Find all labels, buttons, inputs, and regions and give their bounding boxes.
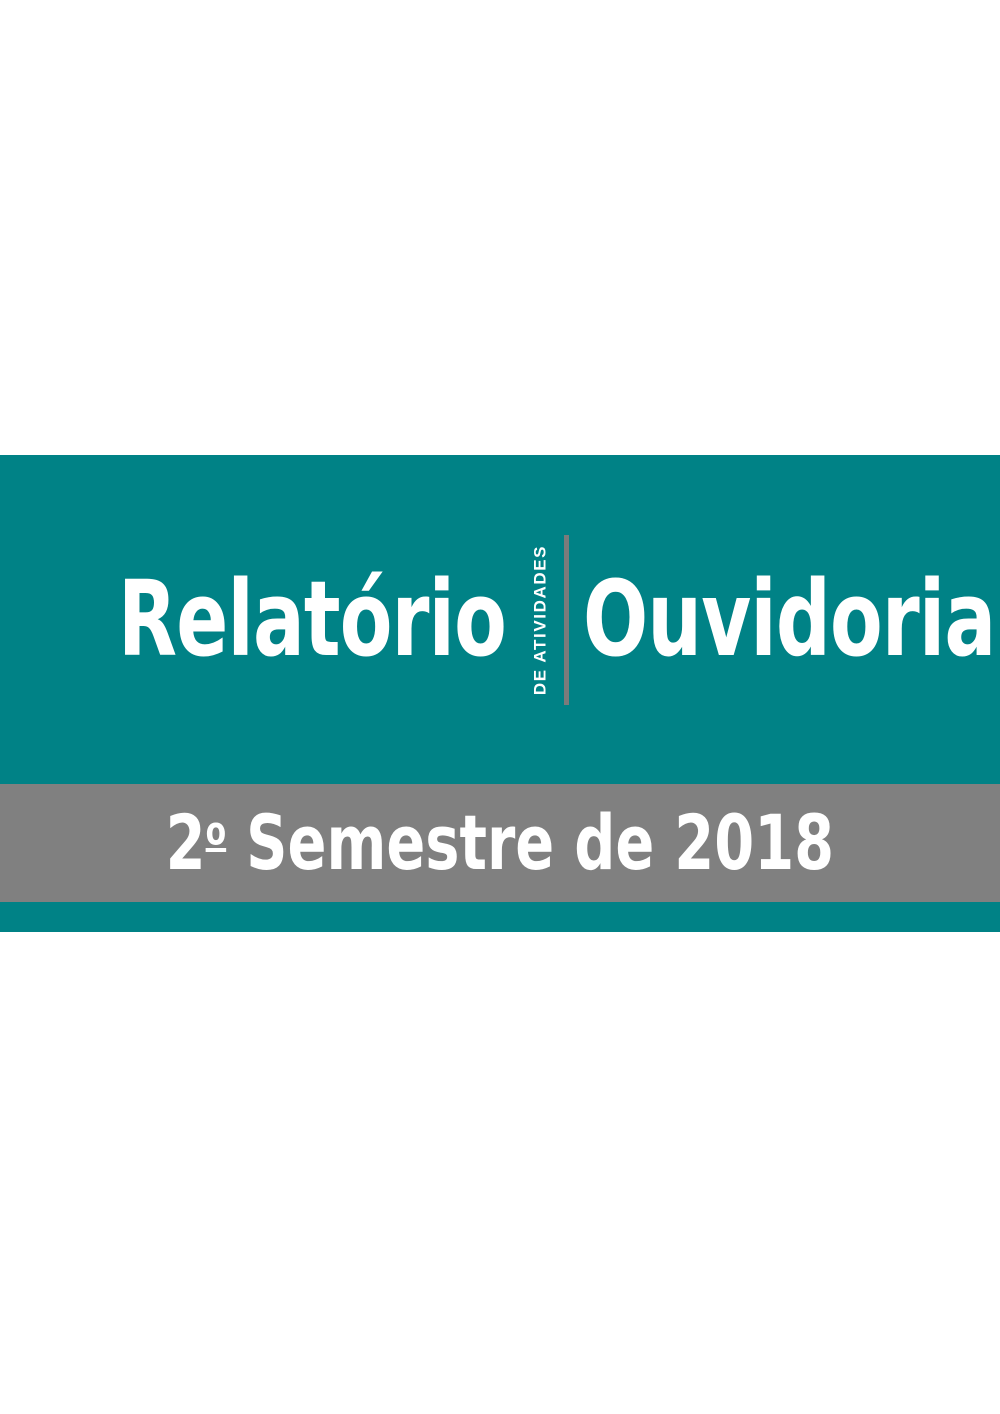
- title-kicker-wrap: DE ATIVIDADES: [522, 530, 558, 710]
- title-row: Relatório DE ATIVIDADES Ouvidoria: [118, 530, 983, 710]
- title-kicker-label: DE ATIVIDADES: [532, 545, 549, 695]
- title-primary-word: Relatório: [118, 575, 446, 664]
- subtitle-text: 2o Semestre de 2018: [166, 805, 834, 881]
- subtitle-container: 2o Semestre de 2018: [0, 784, 1000, 902]
- subtitle-ordinal-number: 2: [166, 798, 206, 887]
- title-secondary-word: Ouvidoria: [583, 575, 911, 664]
- title-lockup: Relatório DE ATIVIDADES Ouvidoria: [0, 530, 1000, 710]
- report-cover-page: Relatório DE ATIVIDADES Ouvidoria 2o Sem…: [0, 0, 1000, 1414]
- footer-accent-band: [0, 902, 1000, 932]
- subtitle-ordinal-mark: o: [206, 809, 227, 855]
- subtitle-rest: Semestre de 2018: [226, 798, 834, 887]
- title-divider-bar: [564, 535, 569, 705]
